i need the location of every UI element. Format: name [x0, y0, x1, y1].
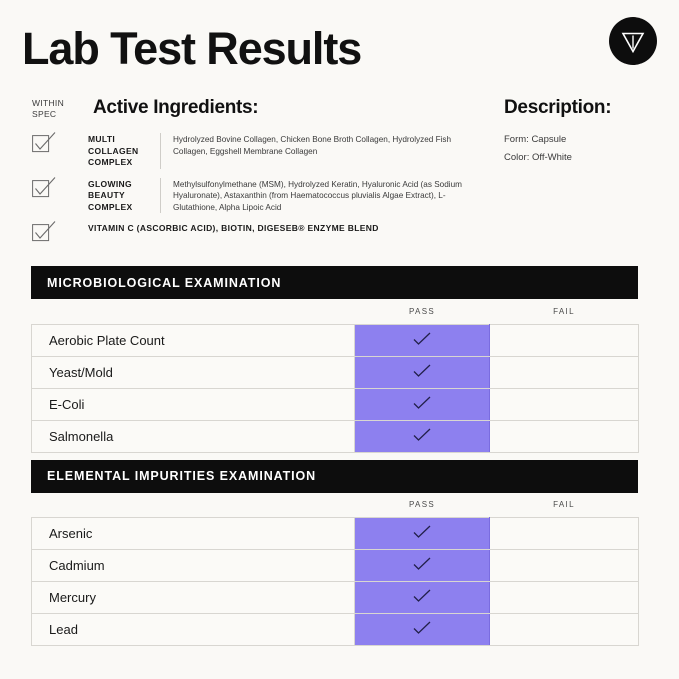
test-name: Aerobic Plate Count	[32, 324, 355, 356]
ingredient-name: MULTI COLLAGEN COMPLEX	[88, 133, 160, 169]
ingredient-name: VITAMIN C (ASCORBIC ACID), BIOTIN, DIGES…	[88, 222, 379, 235]
within-spec-checkbox-cell[interactable]	[32, 178, 88, 197]
page-title: Lab Test Results	[22, 26, 361, 71]
checkbox-checked-icon[interactable]	[32, 224, 49, 241]
pass-result-cell[interactable]	[355, 582, 490, 614]
table-header-row: PASS FAIL	[32, 493, 639, 518]
pass-column-header: PASS	[355, 299, 490, 324]
description-values: Form: Capsule Color: Off-White	[504, 131, 572, 167]
ingredient-row: MULTI COLLAGEN COMPLEX Hydrolyzed Bovine…	[32, 133, 472, 169]
test-name: Mercury	[32, 582, 355, 614]
checkbox-checked-icon[interactable]	[32, 135, 49, 152]
description-color: Color: Off-White	[504, 149, 572, 167]
lab-test-results-document: Lab Test Results WITHINSPEC Active Ingre…	[0, 0, 679, 679]
table-row: Cadmium	[32, 550, 639, 582]
ingredient-divider	[160, 133, 161, 169]
fail-result-cell[interactable]	[490, 388, 639, 420]
section-header-elemental-impurities: ELEMENTAL IMPURITIES EXAMINATION	[31, 460, 638, 493]
table-row: Yeast/Mold	[32, 356, 639, 388]
test-name: Yeast/Mold	[32, 356, 355, 388]
microbiological-results-table: PASS FAIL Aerobic Plate Count Yeast/Mold	[31, 299, 639, 453]
pass-column-header: PASS	[355, 493, 490, 518]
triangle-down-logo-icon	[609, 17, 657, 65]
ingredient-row: VITAMIN C (ASCORBIC ACID), BIOTIN, DIGES…	[32, 222, 472, 241]
ingredient-description: Methylsulfonylmethane (MSM), Hydrolyzed …	[173, 178, 472, 214]
pass-result-cell[interactable]	[355, 356, 490, 388]
fail-result-cell[interactable]	[490, 356, 639, 388]
test-name: Salmonella	[32, 420, 355, 452]
table-spacer	[31, 453, 638, 460]
active-ingredients-heading: Active Ingredients:	[93, 97, 258, 119]
test-name: Cadmium	[32, 550, 355, 582]
active-ingredients-list: MULTI COLLAGEN COMPLEX Hydrolyzed Bovine…	[32, 133, 472, 250]
check-icon	[412, 557, 432, 574]
fail-result-cell[interactable]	[490, 550, 639, 582]
table-row: Aerobic Plate Count	[32, 324, 639, 356]
table-header-row: PASS FAIL	[32, 299, 639, 324]
check-icon	[412, 621, 432, 638]
fail-result-cell[interactable]	[490, 420, 639, 452]
pass-result-cell[interactable]	[355, 614, 490, 646]
description-form: Form: Capsule	[504, 131, 572, 149]
test-name: Arsenic	[32, 518, 355, 550]
check-icon	[412, 428, 432, 445]
section-header-microbiological: MICROBIOLOGICAL EXAMINATION	[31, 266, 638, 299]
ingredient-name: GLOWING BEAUTY COMPLEX	[88, 178, 160, 214]
within-spec-label: WITHINSPEC	[32, 98, 80, 120]
within-spec-checkbox-cell[interactable]	[32, 222, 88, 241]
check-icon	[412, 364, 432, 381]
check-icon	[412, 525, 432, 542]
ingredient-description: Hydrolyzed Bovine Collagen, Chicken Bone…	[173, 133, 472, 157]
document-header: Lab Test Results	[0, 0, 679, 90]
test-name-column-header	[32, 299, 355, 324]
ingredient-divider	[160, 178, 161, 214]
check-icon	[412, 589, 432, 606]
pass-result-cell[interactable]	[355, 550, 490, 582]
test-name: E-Coli	[32, 388, 355, 420]
fail-result-cell[interactable]	[490, 518, 639, 550]
table-row: Mercury	[32, 582, 639, 614]
results-tables: MICROBIOLOGICAL EXAMINATION PASS FAIL Ae…	[31, 266, 638, 646]
fail-result-cell[interactable]	[490, 324, 639, 356]
table-row: Salmonella	[32, 420, 639, 452]
test-name-column-header	[32, 493, 355, 518]
check-icon	[412, 332, 432, 349]
fail-column-header: FAIL	[490, 299, 639, 324]
table-row: Arsenic	[32, 518, 639, 550]
pass-result-cell[interactable]	[355, 420, 490, 452]
pass-result-cell[interactable]	[355, 324, 490, 356]
check-icon	[412, 396, 432, 413]
fail-result-cell[interactable]	[490, 614, 639, 646]
fail-column-header: FAIL	[490, 493, 639, 518]
elemental-impurities-results-table: PASS FAIL Arsenic Cadmium	[31, 493, 639, 647]
description-heading: Description:	[504, 97, 611, 119]
pass-result-cell[interactable]	[355, 388, 490, 420]
table-row: E-Coli	[32, 388, 639, 420]
pass-result-cell[interactable]	[355, 518, 490, 550]
checkbox-checked-icon[interactable]	[32, 180, 49, 197]
fail-result-cell[interactable]	[490, 582, 639, 614]
table-row: Lead	[32, 614, 639, 646]
within-spec-checkbox-cell[interactable]	[32, 133, 88, 152]
test-name: Lead	[32, 614, 355, 646]
ingredient-row: GLOWING BEAUTY COMPLEX Methylsulfonylmet…	[32, 178, 472, 214]
